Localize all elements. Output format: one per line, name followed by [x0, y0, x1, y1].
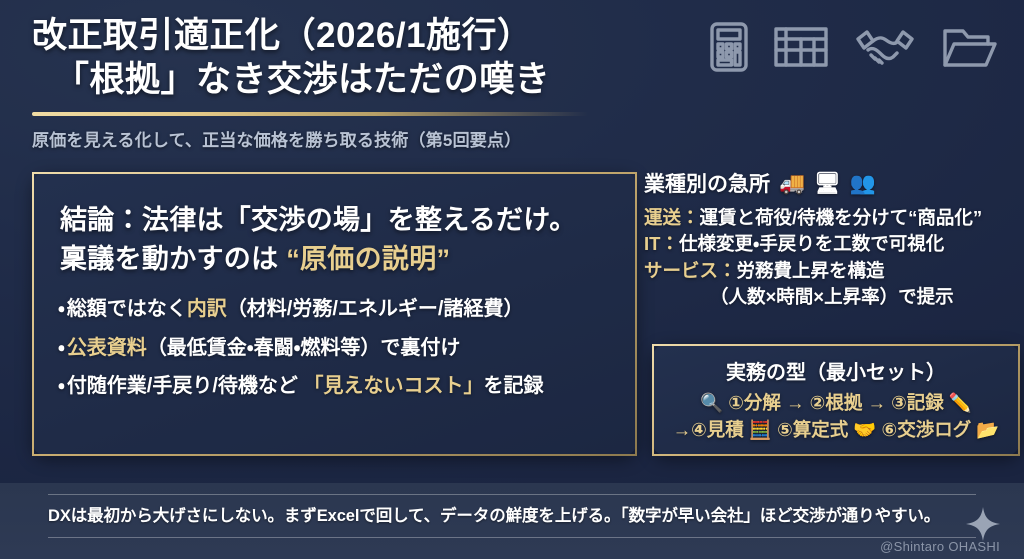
bullet-highlight: 内訳	[187, 298, 227, 320]
industry-label: サービス：	[644, 260, 737, 281]
list-item: ・総額ではなく内訳（材料/労務/エネルギー/諸経費）	[58, 296, 635, 324]
calculator-icon	[710, 22, 748, 72]
bullet-pre: 総額ではなく	[67, 298, 187, 320]
handshake-icon	[854, 25, 916, 69]
lead-line-2-prefix: 稟議を動かすのは	[60, 244, 286, 274]
list-item: ・公表資料（最低賃金・春闘・燃料等）で裏付け	[58, 335, 635, 363]
monitor-icon: 🖥	[814, 173, 841, 194]
bullet-highlight: 公表資料	[67, 337, 147, 359]
industry-text: 仕様変更・手戻りを工数で可視化	[679, 233, 944, 254]
industry-text: 運賃と荷役/待機を分けて“商品化”	[700, 207, 983, 228]
footer-rule-top	[48, 494, 976, 495]
conclusion-card: 結論：法律は「交渉の場」を整えるだけ。 稟議を動かすのは “原価の説明” ・総額…	[32, 172, 637, 456]
lead-line-1: 結論：法律は「交渉の場」を整えるだけ。	[60, 201, 635, 240]
bullet-marker: ・	[58, 337, 65, 359]
workflow-steps-row-1: 🔍 ①分解 → ②根拠 → ③記録 ✏️	[654, 390, 1018, 416]
slide-root: 改正取引適正化（2026/1施行） 「根拠」なき交渉はただの嘆き 原価を見える化…	[0, 0, 1024, 559]
author-credit: @Shintaro OHASHI	[880, 539, 1000, 554]
lead-line-2: 稟議を動かすのは “原価の説明”	[60, 240, 635, 279]
people-icon: 👥	[850, 173, 876, 194]
industry-list: 運送：運賃と荷役/待機を分けて“商品化” IT：仕様変更・手戻りを工数で可視化 …	[644, 205, 1020, 310]
industry-label: IT：	[644, 233, 679, 254]
header: 改正取引適正化（2026/1施行） 「根拠」なき交渉はただの嘆き 原価を見える化…	[32, 14, 652, 151]
footer-text: DXは最初から大げさにしない。まずExcelで回して、データの鮮度を上げる。「数…	[48, 502, 940, 526]
list-item: サービス：労務費上昇を構造	[644, 258, 1020, 284]
bullet-post: を記録	[483, 375, 543, 397]
truck-icon: 🚚	[779, 173, 805, 194]
workflow-steps-row-2: →④見積 🧮 ⑤算定式 🤝 ⑥交渉ログ 📂	[654, 417, 1018, 443]
bullet-post: （材料/労務/エネルギー/諸経費）	[227, 298, 524, 320]
list-item: 運送：運賃と荷役/待機を分けて“商品化”	[644, 205, 1020, 231]
industry-continuation: （人数×時間×上昇率）で提示	[644, 284, 1020, 310]
list-item: ・付随作業/手戻り/待機など 「見えないコスト」を記録	[58, 373, 635, 401]
bullet-marker: ・	[58, 375, 65, 397]
industry-label: 運送：	[644, 207, 700, 228]
header-icon-row	[710, 22, 998, 72]
bullet-list: ・総額ではなく内訳（材料/労務/エネルギー/諸経費） ・公表資料（最低賃金・春闘…	[58, 296, 635, 401]
sparkle-icon	[966, 507, 1000, 541]
industry-section: 業種別の急所 🚚 🖥 👥 運送：運賃と荷役/待機を分けて“商品化” IT：仕様変…	[644, 168, 1020, 310]
bullet-post: （最低賃金・春闘・燃料等）で裏付け	[147, 337, 461, 359]
lead-statement: 結論：法律は「交渉の場」を整えるだけ。 稟議を動かすのは “原価の説明”	[60, 201, 635, 279]
footer-banner: DXは最初から大げさにしない。まずExcelで回して、データの鮮度を上げる。「数…	[0, 483, 1024, 559]
list-item: IT：仕様変更・手戻りを工数で可視化	[644, 231, 1020, 257]
title-line-2: 「根拠」なき交渉はただの嘆き	[32, 58, 652, 102]
page-title: 改正取引適正化（2026/1施行） 「根拠」なき交渉はただの嘆き	[32, 14, 652, 103]
industry-heading-label: 業種別の急所	[644, 168, 770, 198]
lead-highlight: “原価の説明”	[286, 244, 450, 274]
industry-heading: 業種別の急所 🚚 🖥 👥	[644, 168, 1020, 198]
page-subtitle: 原価を見える化して、正当な価格を勝ち取る技術（第5回要点）	[32, 126, 652, 151]
industry-text: 労務費上昇を構造	[737, 260, 885, 281]
workflow-card: 実務の型（最小セット） 🔍 ①分解 → ②根拠 → ③記録 ✏️ →④見積 🧮 …	[652, 344, 1020, 456]
bullet-pre: 付随作業/手戻り/待機など	[67, 375, 304, 397]
bullet-marker: ・	[58, 298, 65, 320]
bullet-highlight: 「見えないコスト」	[303, 375, 483, 397]
workflow-title: 実務の型（最小セット）	[654, 356, 1018, 385]
footer-rule-bottom	[48, 537, 976, 538]
title-line-1: 改正取引適正化（2026/1施行）	[32, 16, 533, 55]
spreadsheet-icon	[774, 25, 828, 69]
folder-icon	[942, 24, 998, 70]
title-divider	[32, 112, 588, 116]
